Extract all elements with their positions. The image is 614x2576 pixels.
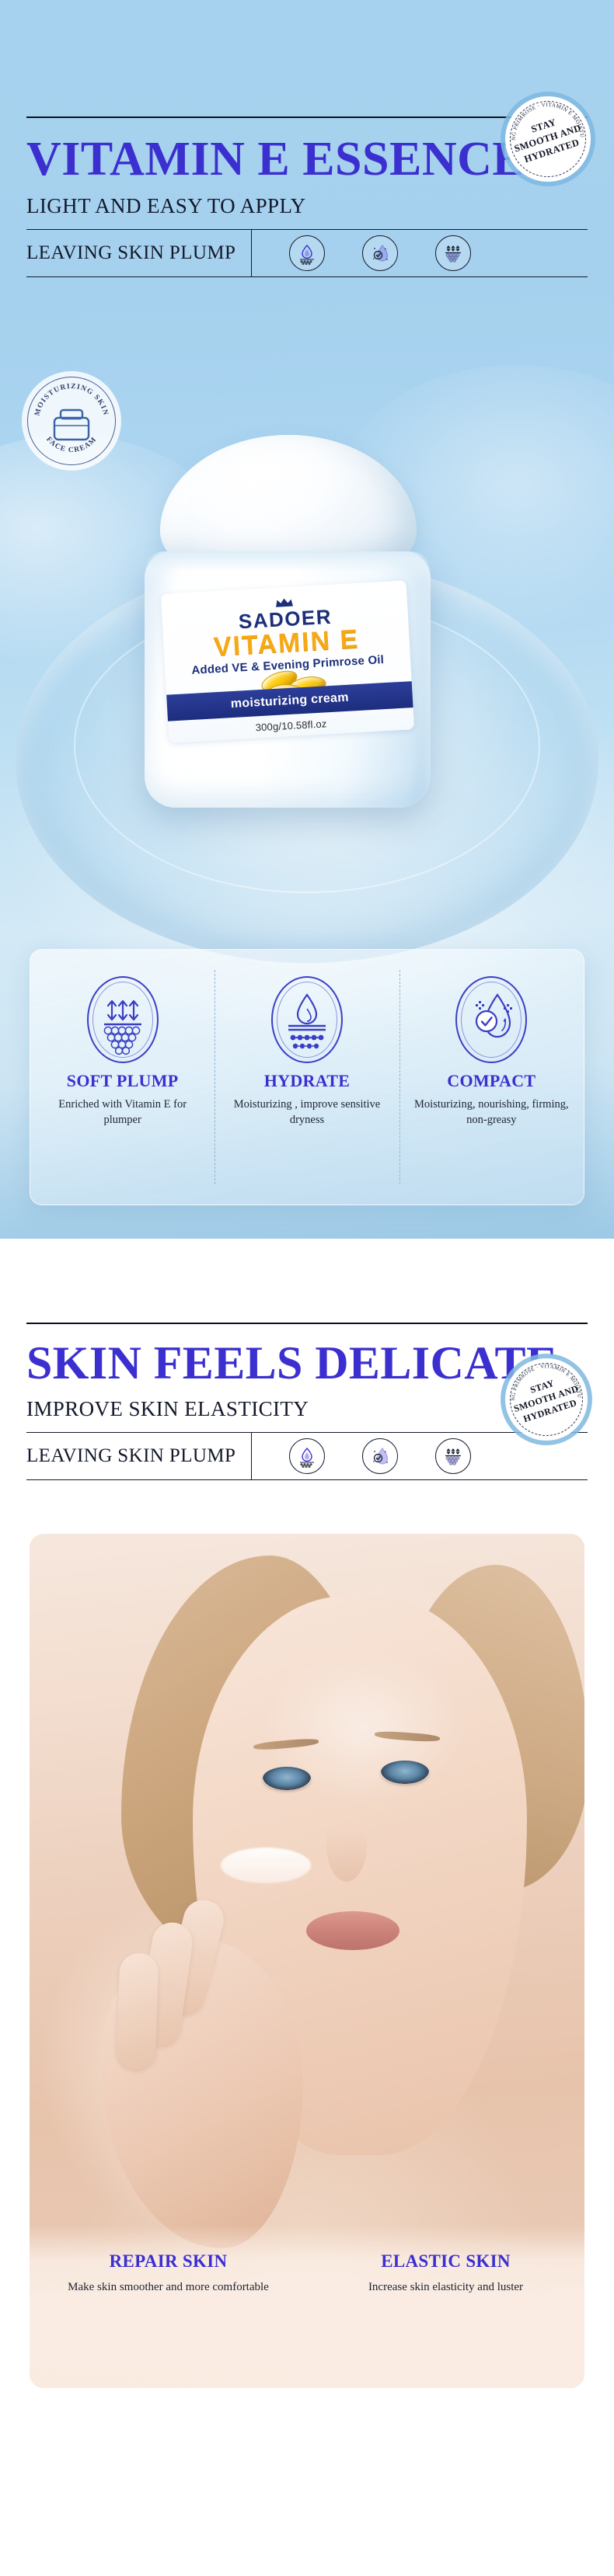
finger bbox=[116, 1952, 159, 2070]
feature-bar-label: LEAVING SKIN PLUMP bbox=[26, 1433, 252, 1479]
face-cream-badge: MOISTURIZING SKIN FACE CREAM bbox=[22, 371, 121, 471]
status-badge: STAY SMOOTH AND HYDRATED EVENING PRIMROS… bbox=[501, 92, 595, 186]
benefit-card-soft-plump: SOFT PLUMP Enriched with Vitamin E for p… bbox=[30, 950, 215, 1205]
hydration-check-drop-icon bbox=[362, 1438, 398, 1474]
crown-icon bbox=[274, 596, 295, 608]
benefit-card-hydrate: HYDRATE Moisturizing , improve sensitive… bbox=[215, 950, 399, 1205]
feature-bar-icons bbox=[252, 1433, 471, 1479]
benefit-title: COMPACT bbox=[410, 1071, 573, 1091]
feature-card-elastic-skin: ELASTIC SKIN Increase skin elasticity an… bbox=[307, 2251, 584, 2388]
page-subtitle: LIGHT AND EASY TO APPLY bbox=[26, 194, 588, 218]
feature-title: REPAIR SKIN bbox=[44, 2251, 293, 2272]
face-cream-badge-bottom-text: FACE CREAM bbox=[44, 436, 99, 454]
product-jar: SADOER VITAMIN E Added VE & Evening Prim… bbox=[124, 435, 451, 846]
feature-bar: LEAVING SKIN PLUMP bbox=[26, 229, 588, 277]
product-band-text: moisturizing cream bbox=[230, 691, 349, 711]
status-badge: STAY SMOOTH AND HYDRATED EVENING PRIMROS… bbox=[501, 1354, 592, 1445]
lips-shape bbox=[306, 1911, 399, 1950]
elasticity-section: SKIN FEELS DELICATE IMPROVE SKIN ELASTIC… bbox=[0, 1239, 614, 2576]
divider-top bbox=[26, 1323, 588, 1324]
cream-jar-icon bbox=[54, 410, 89, 440]
feature-bar-label: LEAVING SKIN PLUMP bbox=[26, 230, 252, 276]
eye-left bbox=[263, 1767, 311, 1790]
eye-right bbox=[381, 1761, 429, 1784]
benefit-desc: Moisturizing , improve sensitive dryness bbox=[225, 1097, 388, 1128]
benefit-desc: Moisturizing, nourishing, firming, non-g… bbox=[410, 1097, 573, 1128]
benefit-card-compact: COMPACT Moisturizing, nourishing, firmin… bbox=[399, 950, 584, 1205]
face-cream-badge-top-text: MOISTURIZING SKIN bbox=[33, 383, 109, 417]
skin-plump-mesh-icon bbox=[87, 976, 159, 1063]
oil-drop-pores-icon bbox=[289, 235, 325, 271]
feature-title: ELASTIC SKIN bbox=[321, 2251, 570, 2272]
benefits-panel: SOFT PLUMP Enriched with Vitamin E for p… bbox=[30, 949, 584, 1205]
photo-feature-cards: REPAIR SKIN Make skin smoother and more … bbox=[30, 2225, 584, 2388]
drop-check-sparkle-icon bbox=[455, 976, 527, 1063]
feature-desc: Increase skin elasticity and luster bbox=[321, 2279, 570, 2296]
hero-section: VITAMIN E ESSENCE LIGHT AND EASY TO APPL… bbox=[0, 0, 614, 1239]
feature-desc: Make skin smoother and more comfortable bbox=[44, 2279, 293, 2296]
brand-name: SADOER bbox=[238, 605, 333, 634]
cream-smear bbox=[221, 1848, 311, 1883]
jar-lip bbox=[145, 551, 431, 572]
water-drop-pores-icon bbox=[271, 976, 343, 1063]
nose-shape bbox=[326, 1807, 367, 1882]
benefit-title: HYDRATE bbox=[225, 1071, 388, 1091]
skin-plump-mesh-icon bbox=[435, 1438, 471, 1474]
benefit-title: SOFT PLUMP bbox=[41, 1071, 204, 1091]
product-label: SADOER VITAMIN E Added VE & Evening Prim… bbox=[161, 580, 414, 742]
skin-plump-mesh-icon bbox=[435, 235, 471, 271]
hydration-check-drop-icon bbox=[362, 235, 398, 271]
model-photo: REPAIR SKIN Make skin smoother and more … bbox=[30, 1534, 584, 2388]
oil-drop-pores-icon bbox=[289, 1438, 325, 1474]
feature-card-repair-skin: REPAIR SKIN Make skin smoother and more … bbox=[30, 2251, 307, 2388]
benefit-desc: Enriched with Vitamin E for plumper bbox=[41, 1097, 204, 1128]
feature-bar-icons bbox=[252, 230, 471, 276]
